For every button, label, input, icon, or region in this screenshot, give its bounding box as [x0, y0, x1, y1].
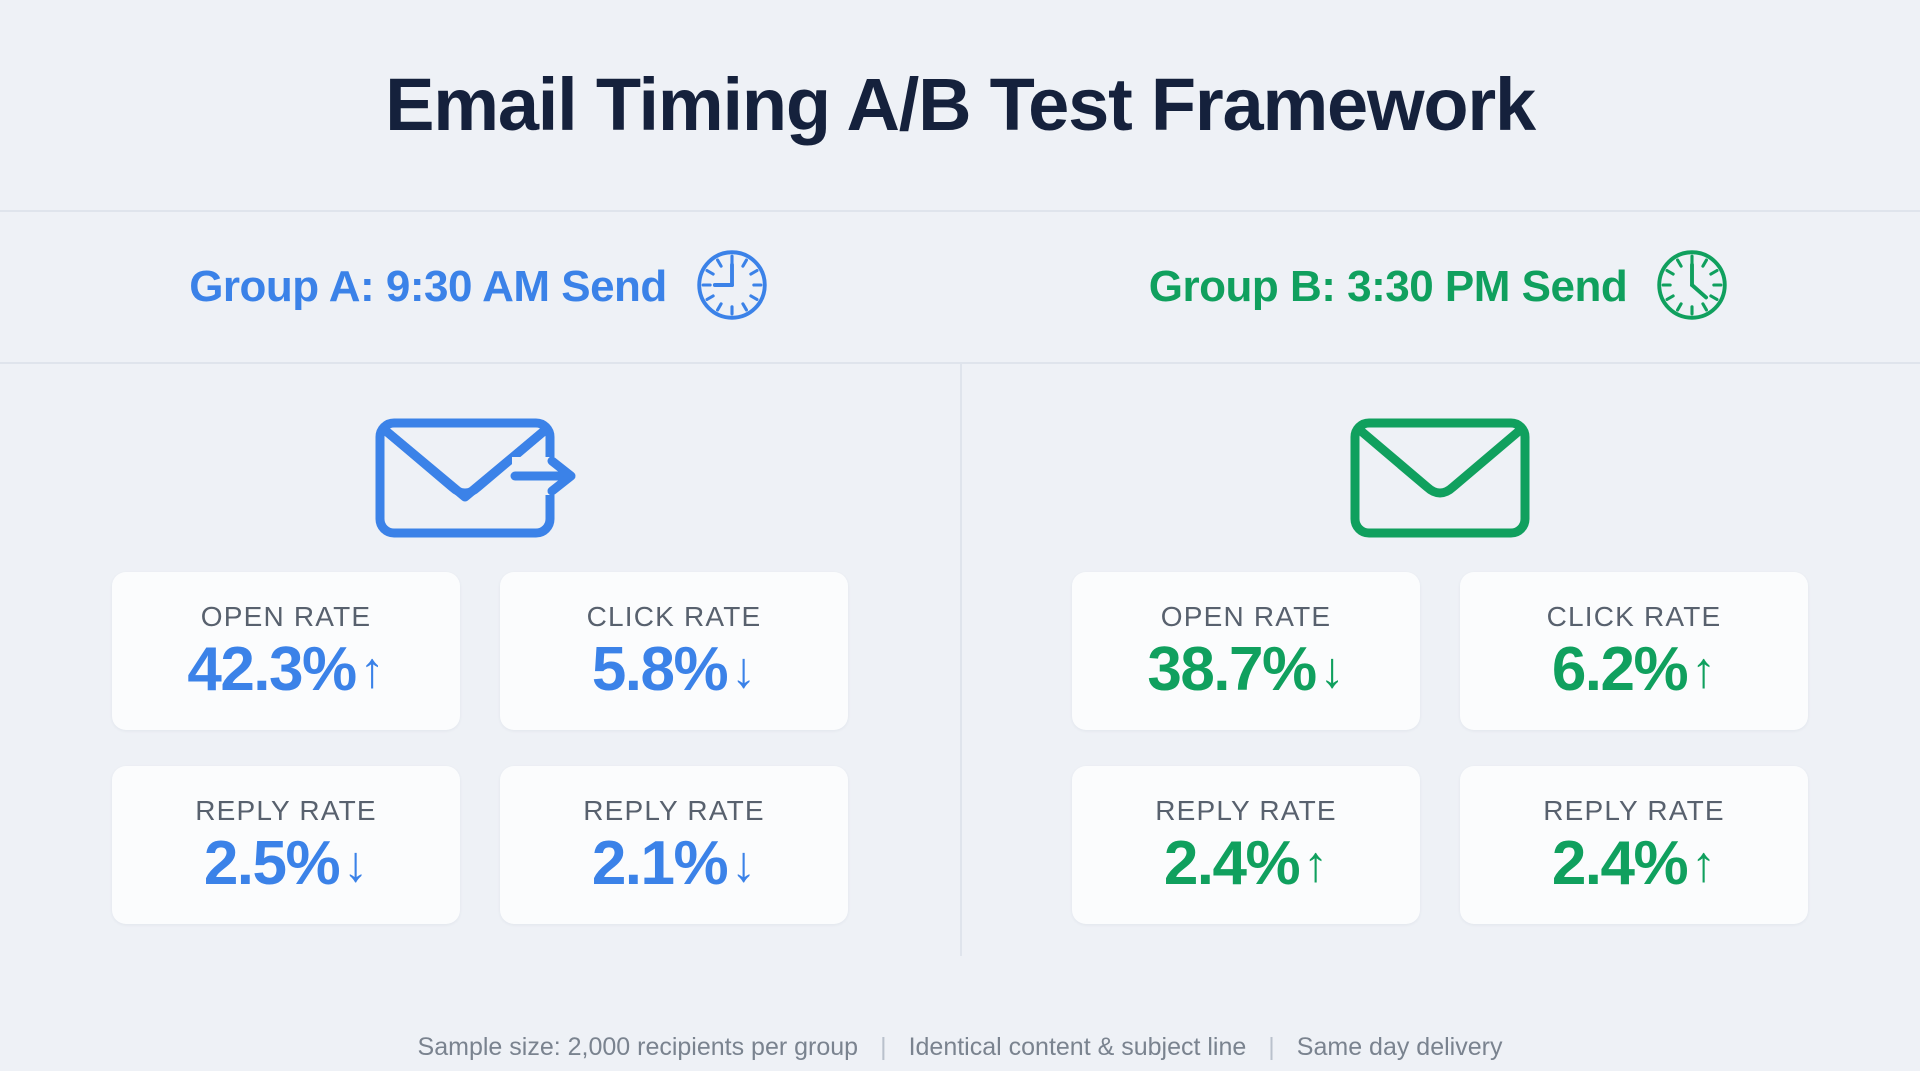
- group-b-metrics: OPEN RATE 38.7% ↓ CLICK RATE 6.2% ↑ REPL…: [1072, 572, 1808, 924]
- metric-card[interactable]: REPLY RATE 2.4% ↑: [1460, 766, 1808, 924]
- trend-arrow-icon: ↓: [731, 839, 756, 889]
- metric-value: 2.5%: [204, 833, 339, 895]
- metric-card[interactable]: CLICK RATE 6.2% ↑: [1460, 572, 1808, 730]
- group-a-label: Group A: 9:30 AM Send: [189, 262, 667, 312]
- metric-value: 38.7%: [1147, 639, 1315, 701]
- trend-arrow-icon: ↑: [1691, 645, 1716, 695]
- metric-label: REPLY RATE: [1155, 795, 1337, 827]
- metric-value-row: 2.4% ↑: [1164, 833, 1328, 895]
- group-header-a: Group A: 9:30 AM Send: [0, 212, 960, 362]
- metric-value-row: 2.5% ↓: [204, 833, 368, 895]
- metric-label: REPLY RATE: [195, 795, 377, 827]
- group-b-column: OPEN RATE 38.7% ↓ CLICK RATE 6.2% ↑ REPL…: [960, 364, 1920, 1024]
- footer-separator: |: [1246, 1033, 1297, 1062]
- footer-note: Sample size: 2,000 recipients per group …: [0, 1024, 1920, 1071]
- clock-icon: [693, 246, 771, 329]
- footer-item-content: Identical content & subject line: [909, 1033, 1247, 1062]
- trend-arrow-icon: ↓: [343, 839, 368, 889]
- clock-icon: [1653, 246, 1731, 329]
- trend-arrow-icon: ↑: [1303, 839, 1328, 889]
- group-a-metrics: OPEN RATE 42.3% ↑ CLICK RATE 5.8% ↓ REPL…: [112, 572, 848, 924]
- column-divider: [960, 364, 962, 956]
- metric-value: 2.4%: [1552, 833, 1687, 895]
- comparison-body: OPEN RATE 42.3% ↑ CLICK RATE 5.8% ↓ REPL…: [0, 364, 1920, 1024]
- infographic-page: Email Timing A/B Test Framework Group A:…: [0, 0, 1920, 1071]
- trend-arrow-icon: ↑: [1691, 839, 1716, 889]
- metric-value: 6.2%: [1552, 639, 1687, 701]
- metric-card[interactable]: CLICK RATE 5.8% ↓: [500, 572, 848, 730]
- metric-label: OPEN RATE: [201, 601, 372, 633]
- page-title: Email Timing A/B Test Framework: [385, 68, 1535, 142]
- metric-card[interactable]: OPEN RATE 38.7% ↓: [1072, 572, 1420, 730]
- metric-card[interactable]: REPLY RATE 2.1% ↓: [500, 766, 848, 924]
- metric-card[interactable]: OPEN RATE 42.3% ↑: [112, 572, 460, 730]
- metric-label: OPEN RATE: [1161, 601, 1332, 633]
- trend-arrow-icon: ↓: [1320, 645, 1345, 695]
- metric-value-row: 6.2% ↑: [1552, 639, 1716, 701]
- metric-value: 42.3%: [187, 639, 355, 701]
- title-band: Email Timing A/B Test Framework: [0, 0, 1920, 212]
- metric-value: 2.4%: [1164, 833, 1299, 895]
- trend-arrow-icon: ↑: [360, 645, 385, 695]
- metric-label: REPLY RATE: [1543, 795, 1725, 827]
- metric-value-row: 42.3% ↑: [187, 639, 384, 701]
- envelope-send-icon: [372, 394, 588, 554]
- metric-label: REPLY RATE: [583, 795, 765, 827]
- metric-value-row: 2.4% ↑: [1552, 833, 1716, 895]
- group-header-b: Group B: 3:30 PM Send: [960, 212, 1920, 362]
- metric-value-row: 5.8% ↓: [592, 639, 756, 701]
- metric-label: CLICK RATE: [587, 601, 762, 633]
- footer-separator: |: [858, 1033, 909, 1062]
- footer-item-delivery: Same day delivery: [1297, 1033, 1503, 1062]
- metric-value: 2.1%: [592, 833, 727, 895]
- metric-card[interactable]: REPLY RATE 2.5% ↓: [112, 766, 460, 924]
- metric-value: 5.8%: [592, 639, 727, 701]
- footer-item-sample-size: Sample size: 2,000 recipients per group: [418, 1033, 859, 1062]
- envelope-icon: [1332, 394, 1548, 554]
- metric-value-row: 2.1% ↓: [592, 833, 756, 895]
- group-header-band: Group A: 9:30 AM Send: [0, 212, 1920, 364]
- trend-arrow-icon: ↓: [731, 645, 756, 695]
- metric-label: CLICK RATE: [1547, 601, 1722, 633]
- group-a-column: OPEN RATE 42.3% ↑ CLICK RATE 5.8% ↓ REPL…: [0, 364, 960, 1024]
- group-b-label: Group B: 3:30 PM Send: [1149, 262, 1627, 312]
- metric-card[interactable]: REPLY RATE 2.4% ↑: [1072, 766, 1420, 924]
- metric-value-row: 38.7% ↓: [1147, 639, 1344, 701]
